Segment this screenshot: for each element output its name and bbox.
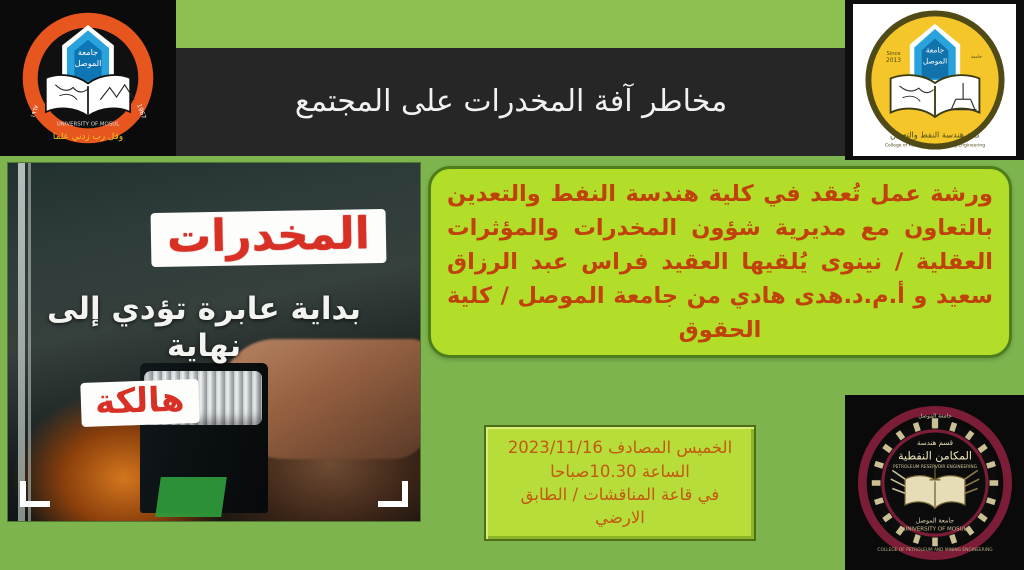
svg-text:جامعة: جامعة [78,47,98,57]
svg-text:المكامن النفطية: المكامن النفطية [898,449,972,463]
poster-canvas: جامعة الموصل UNIVERSITY OF MOSUL وقل رب … [0,0,1024,570]
department-logo-panel: جامعة الموصل [845,395,1024,570]
corner-bracket-bottom-left-icon [20,481,50,507]
svg-text:Since: Since [886,51,900,57]
college-logo-panel: جامعة الموصل Since 2013 جامعة كلية هندسة… [845,0,1024,160]
svg-text:College of Petroleum and Minin: College of Petroleum and Mining Engineer… [884,143,984,149]
svg-text:2013: 2013 [886,58,901,64]
college-of-petroleum-and-mining-engineering-logo: جامعة الموصل Since 2013 جامعة كلية هندسة… [861,6,1009,154]
poster-title-bar: مخاطر آفة المخدرات على المجتمع [176,48,846,156]
svg-text:الموصل: الموصل [75,58,102,68]
pill-bottle-label [155,477,227,517]
svg-text:جامعة: جامعة [925,46,944,55]
page-title: مخاطر آفة المخدرات على المجتمع [281,83,741,121]
college-logo-card: جامعة الموصل Since 2013 جامعة كلية هندسة… [853,4,1016,156]
petroleum-reservoir-engineering-department-logo: جامعة الموصل [856,404,1014,562]
photo-subline: بداية عابرة تؤدي إلى نهاية [14,291,394,365]
svg-text:COLLEGE OF PETROLEUM AND MININ: COLLEGE OF PETROLEUM AND MINING ENGINEER… [877,546,992,552]
workshop-description-box: ورشة عمل تُعقد في كلية هندسة النفط والتع… [428,166,1012,358]
svg-text:وقل رب زدني علما: وقل رب زدني علما [53,132,123,142]
event-details-text: الخميس المصادف 2023/11/16الساعة 10.30صبا… [486,434,754,532]
university-of-mosul-logo: جامعة الموصل UNIVERSITY OF MOSUL وقل رب … [20,10,156,146]
svg-text:قسم هندسة: قسم هندسة [916,438,952,447]
svg-text:جامعة الموصل: جامعة الموصل [915,517,953,524]
svg-text:UNIVERSITY OF MOSUL: UNIVERSITY OF MOSUL [57,122,120,128]
event-details-box: الخميس المصادف 2023/11/16الساعة 10.30صبا… [484,425,756,541]
svg-text:كلية هندسة النفط والتعدين: كلية هندسة النفط والتعدين [889,130,979,140]
drug-awareness-photo: المخدرات بداية عابرة تؤدي إلى نهاية هالك… [8,163,420,521]
top-green-strip [176,0,846,48]
svg-text:جامعة: جامعة [970,55,981,60]
svg-text:الموصل: الموصل [922,57,946,66]
svg-text:UNIVERSITY OF MOSUL: UNIVERSITY OF MOSUL [903,526,967,532]
university-logo-panel: جامعة الموصل UNIVERSITY OF MOSUL وقل رب … [0,0,176,156]
corner-bracket-bottom-right-icon [378,481,408,507]
photo-endline: هالكة [80,379,199,427]
workshop-description-text: ورشة عمل تُعقد في كلية هندسة النفط والتع… [431,173,1009,352]
photo-headline: المخدرات [151,209,387,267]
